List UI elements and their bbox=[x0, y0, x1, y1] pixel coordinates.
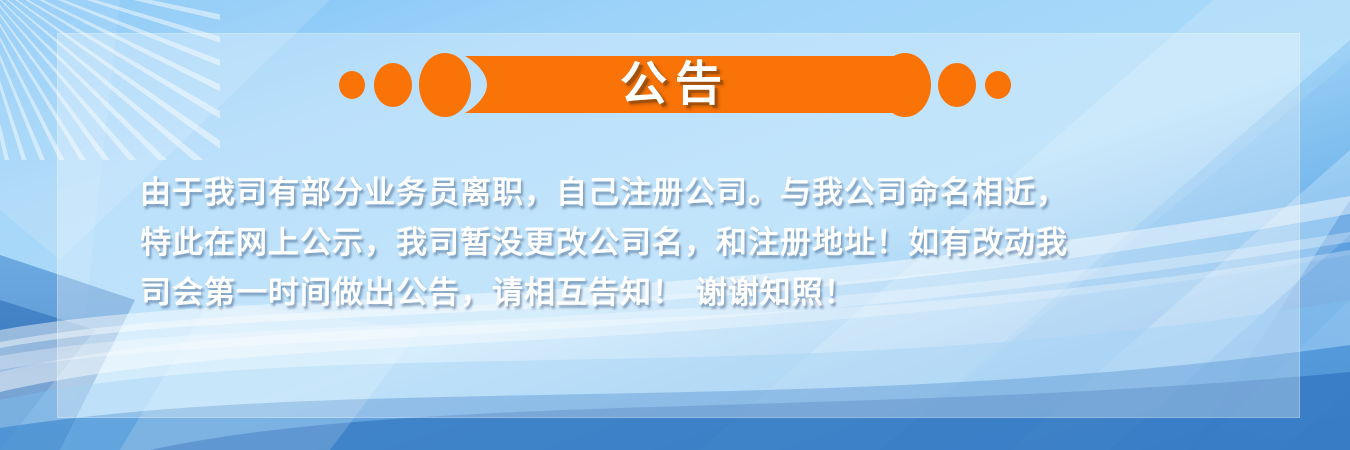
decor-dot-right-medium bbox=[938, 63, 976, 107]
banner-header: 公告 bbox=[0, 48, 1350, 122]
announcement-line-1: 由于我司有部分业务员离职，自己注册公司。与我公司命名相近， bbox=[140, 168, 1240, 218]
decor-dot-right-small bbox=[985, 71, 1011, 99]
announcement-line-3: 司会第一时间做出公告，请相互告知！ 谢谢知照！ bbox=[140, 268, 1240, 318]
announcement-line-2: 特此在网上公示，我司暂没更改公司名，和注册地址！如有改动我 bbox=[140, 218, 1240, 268]
decor-dot-left-small bbox=[339, 71, 365, 99]
decor-dot-left-medium bbox=[374, 63, 412, 107]
page-title: 公告 bbox=[447, 56, 903, 113]
announcement-banner: 公告 由于我司有部分业务员离职，自己注册公司。与我公司命名相近， 特此在网上公示… bbox=[0, 0, 1350, 450]
announcement-body: 由于我司有部分业务员离职，自己注册公司。与我公司命名相近， 特此在网上公示，我司… bbox=[140, 168, 1240, 318]
